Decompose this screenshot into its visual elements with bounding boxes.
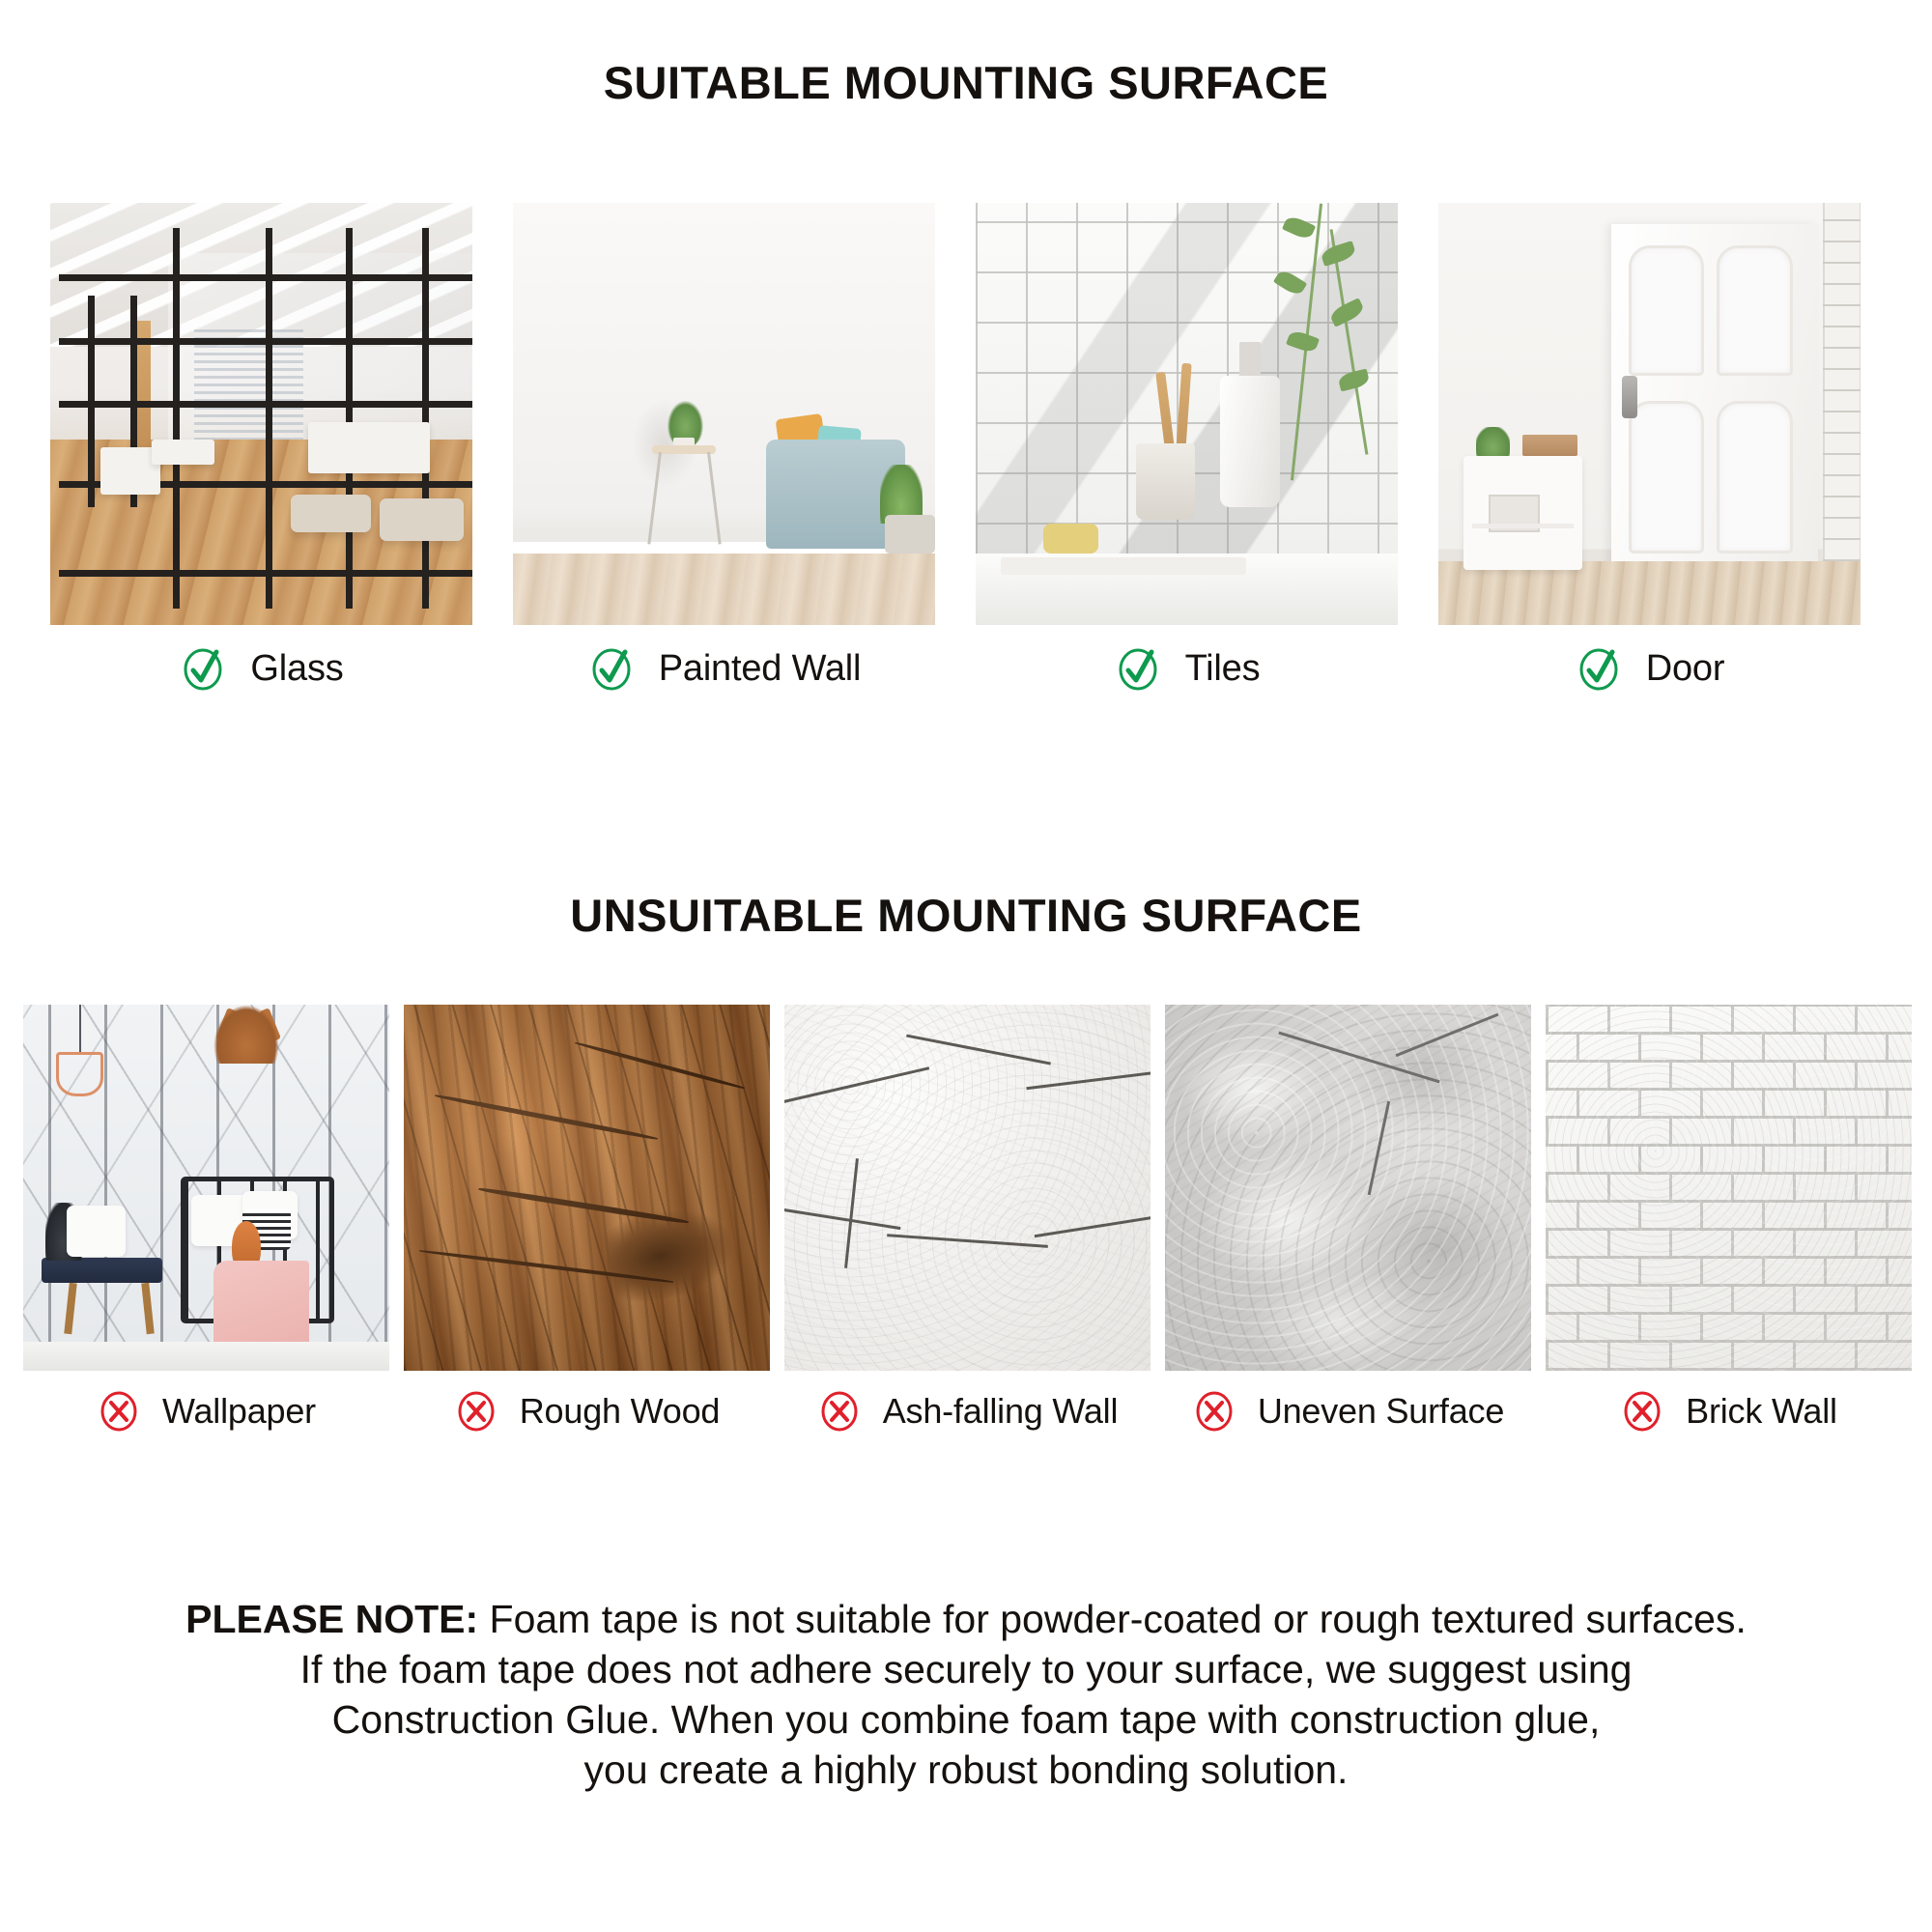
suitable-tile-glass [50, 203, 472, 625]
glass-office-partition-photo [50, 203, 472, 625]
suitable-label-row: Glass Painted Wall Tiles Door [50, 643, 1886, 694]
unsuitable-label-ash-falling-wall: Ash-falling Wall [784, 1389, 1151, 1434]
cross-circle-icon [817, 1389, 862, 1434]
unsuitable-label-text: Wallpaper [162, 1391, 316, 1432]
suitable-label-glass: Glass [50, 643, 472, 694]
unsuitable-label-brick-wall: Brick Wall [1546, 1389, 1912, 1434]
suitable-tile-painted-wall [513, 203, 935, 625]
cross-circle-icon [97, 1389, 141, 1434]
suitable-image-row [50, 203, 1886, 625]
check-circle-icon [1114, 643, 1164, 694]
note-line-3: Construction Glue. When you combine foam… [29, 1694, 1903, 1745]
suitable-label-tiles: Tiles [976, 643, 1398, 694]
check-circle-icon [179, 643, 229, 694]
white-interior-door-photo [1438, 203, 1861, 625]
suitable-label-text: Glass [250, 648, 343, 690]
suitable-label-text: Painted Wall [659, 648, 862, 690]
bathroom-tiles-photo [976, 203, 1398, 625]
please-note-paragraph: PLEASE NOTE: Foam tape is not suitable f… [29, 1594, 1903, 1795]
cross-circle-icon [454, 1389, 498, 1434]
unsuitable-tile-rough-wood [404, 1005, 770, 1371]
unsuitable-label-rough-wood: Rough Wood [404, 1389, 770, 1434]
unsuitable-tile-ash-falling-wall [784, 1005, 1151, 1371]
suitable-label-text: Door [1646, 648, 1725, 690]
white-brick-wall-photo [1546, 1005, 1912, 1371]
suitable-tile-tiles [976, 203, 1398, 625]
unsuitable-label-row: Wallpaper Rough Wood Ash-falling Wall Un… [23, 1389, 1912, 1434]
cross-circle-icon [1192, 1389, 1236, 1434]
note-line-4: you create a highly robust bonding solut… [29, 1745, 1903, 1795]
check-circle-icon [587, 643, 638, 694]
suitable-tile-door [1438, 203, 1861, 625]
unsuitable-tile-wallpaper [23, 1005, 389, 1371]
uneven-concrete-photo [1165, 1005, 1531, 1371]
check-circle-icon [1575, 643, 1625, 694]
wallpaper-bedroom-photo [23, 1005, 389, 1371]
note-line-1-rest: Foam tape is not suitable for powder-coa… [478, 1597, 1747, 1641]
unsuitable-section-title: UNSUITABLE MOUNTING SURFACE [0, 889, 1932, 942]
unsuitable-image-row [23, 1005, 1912, 1371]
unsuitable-tile-uneven-surface [1165, 1005, 1531, 1371]
painted-wall-living-room-photo [513, 203, 935, 625]
suitable-label-door: Door [1438, 643, 1861, 694]
cracked-plaster-wall-photo [784, 1005, 1151, 1371]
mounting-surface-infographic: SUITABLE MOUNTING SURFACE [0, 0, 1932, 1932]
note-line-2: If the foam tape does not adhere securel… [29, 1644, 1903, 1694]
rough-wood-grain-photo [404, 1005, 770, 1371]
suitable-label-text: Tiles [1185, 648, 1261, 690]
suitable-section-title: SUITABLE MOUNTING SURFACE [0, 56, 1932, 109]
unsuitable-label-text: Uneven Surface [1258, 1391, 1504, 1432]
unsuitable-label-uneven-surface: Uneven Surface [1165, 1389, 1531, 1434]
unsuitable-tile-brick-wall [1546, 1005, 1912, 1371]
unsuitable-label-wallpaper: Wallpaper [23, 1389, 389, 1434]
unsuitable-label-text: Rough Wood [520, 1391, 720, 1432]
note-lead-label: PLEASE NOTE: [185, 1597, 478, 1641]
suitable-label-painted-wall: Painted Wall [513, 643, 935, 694]
note-line-1: PLEASE NOTE: Foam tape is not suitable f… [29, 1594, 1903, 1644]
cross-circle-icon [1620, 1389, 1664, 1434]
unsuitable-label-text: Brick Wall [1686, 1391, 1837, 1432]
unsuitable-label-text: Ash-falling Wall [883, 1391, 1119, 1432]
